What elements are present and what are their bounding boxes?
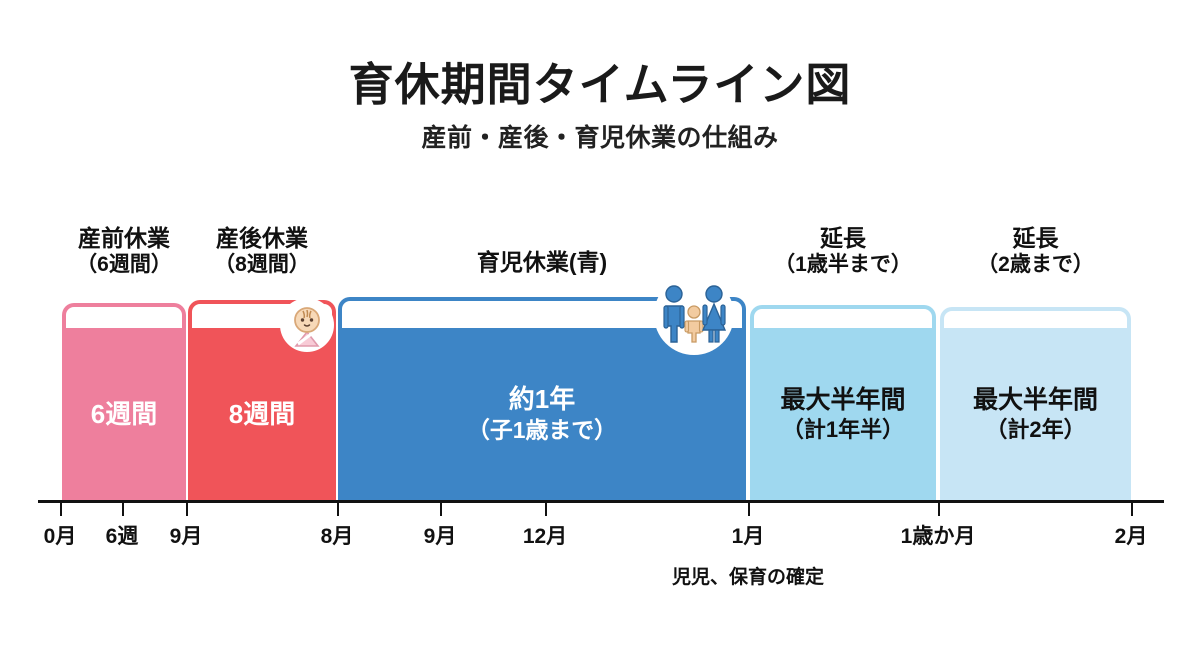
axis-tick-3 <box>337 503 339 516</box>
family-icon <box>654 275 734 355</box>
segment-label-extension-2: 延長（2歳まで） <box>940 224 1131 278</box>
axis-tick-label-8: 2月 <box>1115 520 1148 550</box>
segment-label-sub-prenatal: （6週間） <box>62 252 186 278</box>
segment-bar-text-extension-1: 最大半年間（計1年半） <box>780 385 905 444</box>
axis-tick-5 <box>545 503 547 516</box>
segment-bar-subvalue-extension-2: （計2年） <box>973 416 1098 444</box>
axis-tick-label-6: 1月 <box>732 520 765 550</box>
segment-bracket-extension-1 <box>750 305 936 330</box>
segment-label-title-extension-2: 延長 <box>1013 225 1059 251</box>
segment-label-childcare-leave: 育児休業(青) <box>338 248 746 276</box>
axis-tick-1 <box>122 503 124 516</box>
timeline-axis <box>38 500 1164 503</box>
axis-tick-0 <box>60 503 62 516</box>
axis-tick-8 <box>1131 503 1133 516</box>
baby-note: 児児、保育の確定 <box>672 562 824 589</box>
segment-label-title-childcare-leave: 育児休業(青) <box>477 249 607 275</box>
axis-tick-label-7: 1歳か月 <box>901 520 976 550</box>
chart-canvas: 産前休業（6週間）6週間産後休業（8週間）8週間育児休業(青)約1年（子1歳まで… <box>0 0 1200 669</box>
segment-bar-subvalue-childcare-leave: （子1歳まで） <box>467 416 617 445</box>
segment-bar-extension-2[interactable]: 最大半年間（計2年） <box>940 328 1131 500</box>
segment-bar-value-childcare-leave: 約1年 <box>509 384 575 414</box>
axis-tick-label-0: 0月 <box>44 520 77 550</box>
axis-tick-4 <box>440 503 442 516</box>
axis-tick-label-4: 9月 <box>424 520 457 550</box>
segment-bar-subvalue-extension-1: （計1年半） <box>780 416 905 444</box>
axis-tick-7 <box>938 503 940 516</box>
segment-bar-prenatal[interactable]: 6週間 <box>62 328 186 500</box>
segment-bar-text-extension-2: 最大半年間（計2年） <box>973 385 1098 444</box>
axis-tick-2 <box>186 503 188 516</box>
axis-tick-label-5: 12月 <box>523 520 567 550</box>
segment-bar-text-prenatal: 6週間 <box>91 398 157 431</box>
segment-bar-postnatal[interactable]: 8週間 <box>188 328 336 500</box>
segment-bar-value-extension-1: 最大半年間 <box>780 386 905 414</box>
segment-label-title-extension-1: 延長 <box>820 225 866 251</box>
segment-bar-text-postnatal: 8週間 <box>229 398 295 431</box>
segment-bar-text-childcare-leave: 約1年（子1歳まで） <box>467 383 617 444</box>
segment-label-sub-extension-1: （1歳半まで） <box>750 252 936 278</box>
timeline-diagram: 育休期間タイムライン図 産前・産後・育児休業の仕組み 産前休業（6週間）6週間産… <box>0 0 1200 669</box>
segment-label-sub-postnatal: （8週間） <box>188 252 336 278</box>
segment-bar-extension-1[interactable]: 最大半年間（計1年半） <box>750 328 936 500</box>
segment-bar-value-extension-2: 最大半年間 <box>973 386 1098 414</box>
segment-label-extension-1: 延長（1歳半まで） <box>750 224 936 278</box>
segment-label-prenatal: 産前休業（6週間） <box>62 224 186 278</box>
segment-bracket-extension-2 <box>940 307 1131 330</box>
segment-label-sub-extension-2: （2歳まで） <box>940 252 1131 278</box>
baby-icon <box>280 298 334 352</box>
segment-label-title-postnatal: 産後休業 <box>216 225 308 251</box>
axis-tick-label-1: 6週 <box>106 520 139 550</box>
segment-label-postnatal: 産後休業（8週間） <box>188 224 336 278</box>
axis-tick-label-2: 9月 <box>170 520 203 550</box>
segment-bar-value-postnatal: 8週間 <box>229 399 295 429</box>
axis-tick-label-3: 8月 <box>321 520 354 550</box>
segment-bracket-prenatal <box>62 303 186 330</box>
segment-label-title-prenatal: 産前休業 <box>78 225 170 251</box>
axis-tick-6 <box>748 503 750 516</box>
segment-bar-value-prenatal: 6週間 <box>91 399 157 429</box>
